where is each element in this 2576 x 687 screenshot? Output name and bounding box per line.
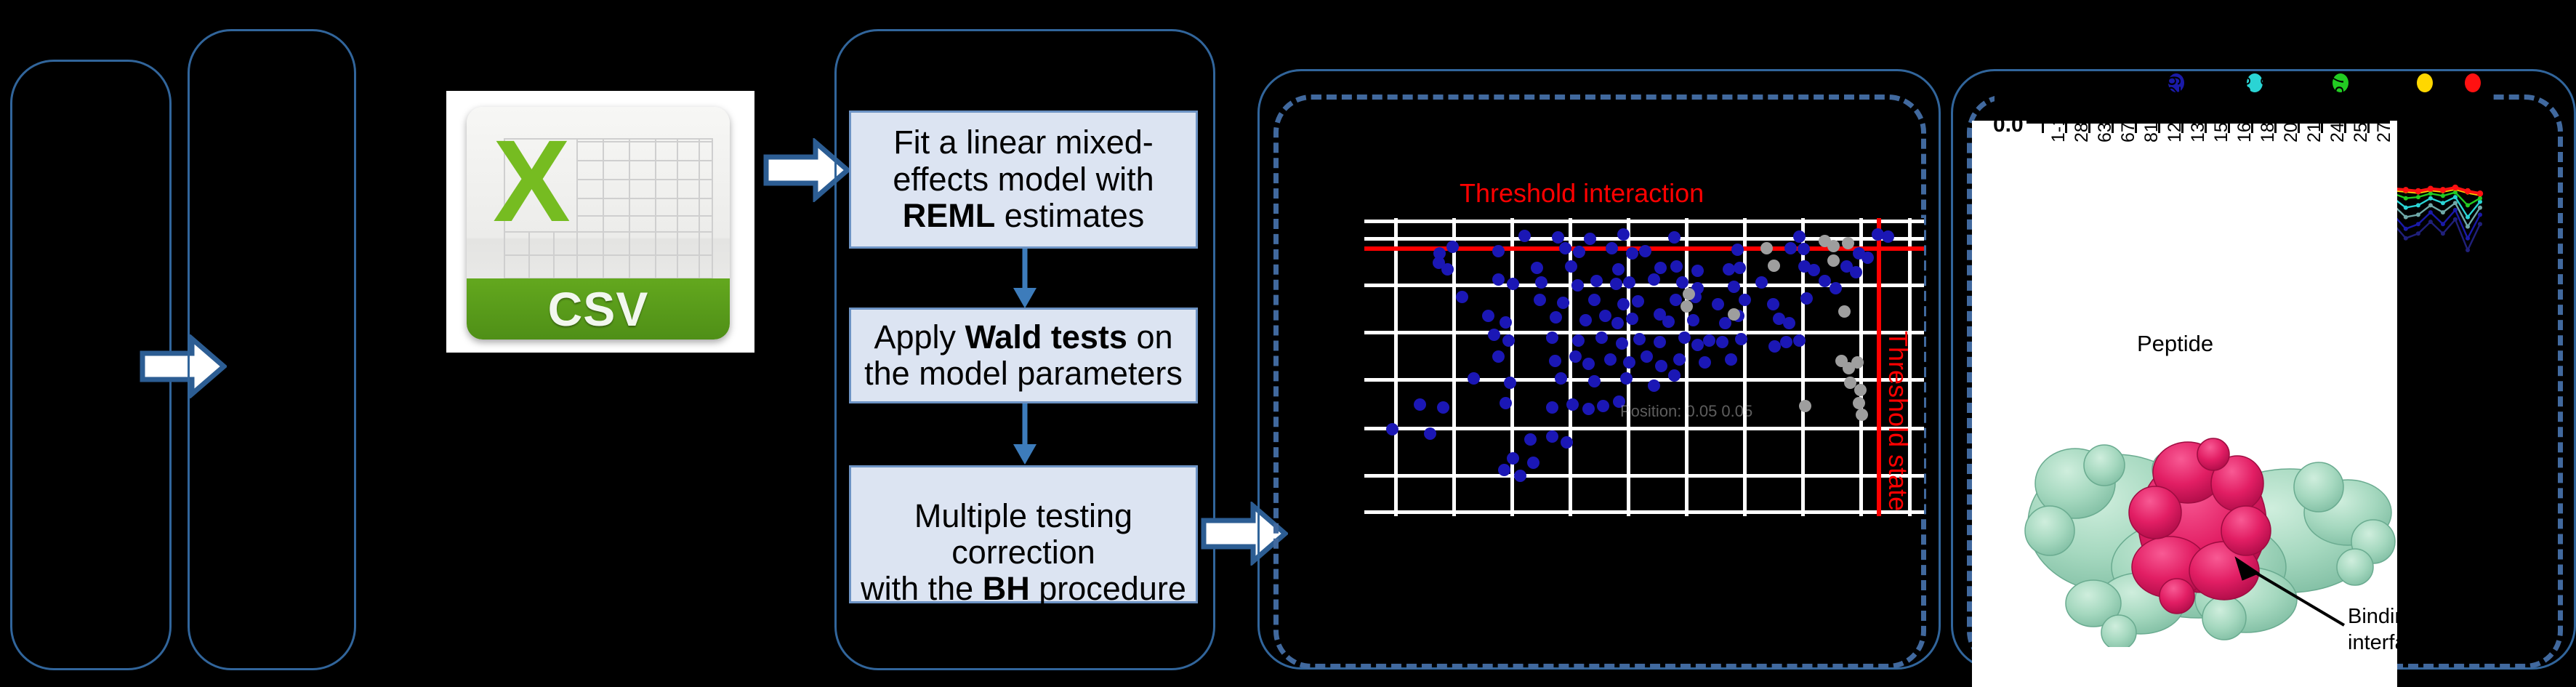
threshold-state-label: Threshold state — [1883, 331, 1913, 511]
step-bh-post: procedure — [1030, 570, 1186, 607]
scatter-plot: Position: 0.05 0.05 — [1364, 218, 1924, 516]
step-wald-bold: Wald tests — [965, 318, 1127, 355]
peptide-tick-label: 1-15 — [2048, 106, 2069, 142]
peptide-tick-label: 67-75 — [2118, 96, 2139, 142]
csv-band-label: CSV — [548, 281, 649, 337]
legend-dot-4 — [2417, 73, 2433, 92]
peptide-y-axis-value: 0.0 — [1993, 113, 2024, 137]
step-box-reml: Fit a linear mixed-effects model with RE… — [849, 111, 1198, 249]
step-bh-bold: BH — [983, 570, 1030, 607]
step-reml-pre: Fit a linear mixed-effects model with — [893, 124, 1154, 197]
legend-dot-5 — [2465, 73, 2481, 92]
csv-file-thumbnail: X CSV — [446, 91, 754, 353]
csv-band: CSV — [467, 278, 730, 340]
connector-wald-to-bh — [1007, 403, 1042, 466]
step-box-wald: Apply Wald tests on the model parameters — [849, 308, 1198, 403]
binding-interface-line1: Binding — [2348, 603, 2428, 630]
step-wald-pre: Apply — [874, 318, 965, 355]
csv-icon: X CSV — [467, 107, 730, 340]
peptide-tick-label: 158-166 — [2211, 76, 2232, 142]
binding-interface-line2: interface — [2348, 630, 2428, 656]
csv-x-glyph: X — [493, 123, 571, 239]
binding-interface-label: Binding interface — [2348, 603, 2428, 656]
peptide-tick-label: 81-101 — [2141, 86, 2162, 142]
scatter-ghost-text: Position: 0.05 0.05 — [1620, 402, 1752, 421]
threshold-interaction-label: Threshold interaction — [1460, 178, 1704, 209]
peptide-tick-label: 277-284 — [2374, 76, 2395, 142]
step-reml-post: estimates — [995, 197, 1144, 234]
step-box-bh: Multiple testing correction with the BH … — [849, 465, 1198, 603]
connector-reml-to-wald — [1007, 249, 1042, 310]
peptide-tick-label: 218-237 — [2304, 76, 2325, 142]
peptide-tick-label: 63-73 — [2095, 96, 2116, 142]
peptide-tick-label: 184-199 — [2258, 76, 2279, 142]
csv-panel — [188, 29, 356, 670]
peptide-tick-label: 200-214 — [2281, 76, 2302, 142]
threshold-state-line — [1877, 218, 1881, 516]
peptide-axis-title: Peptide — [2137, 331, 2213, 357]
peptide-tick-label: 28-44 — [2072, 96, 2093, 142]
peptide-tick-label: 135-144 — [2188, 76, 2209, 142]
peptide-tick-mark — [2042, 124, 2044, 133]
peptide-tick-label: 241-257 — [2327, 76, 2348, 142]
peptide-tick-label: 258-266 — [2351, 76, 2372, 142]
peptide-tick-label: 167-180 — [2234, 76, 2255, 142]
peptide-tick-label: 122-129 — [2165, 76, 2186, 142]
step-reml-bold: REML — [903, 197, 996, 234]
